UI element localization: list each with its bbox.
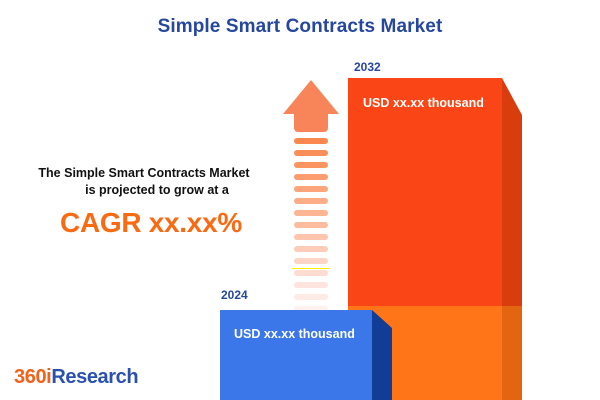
arrow-segment [294, 294, 328, 300]
arrow-segment [294, 258, 328, 264]
arrow-segment [294, 234, 328, 240]
brand-logo[interactable]: 360iResearch [14, 366, 138, 389]
page-title: Simple Smart Contracts Market [0, 16, 600, 38]
cagr-value: CAGR xx.xx% [8, 207, 280, 239]
growth-arrow-icon [283, 80, 339, 285]
arrow-head-icon [283, 80, 339, 132]
arrow-segment [294, 162, 328, 168]
arrow-segment [294, 270, 328, 276]
arrow-segment [294, 282, 328, 288]
bar-2032-side-face-lower [502, 306, 522, 400]
arrow-head-triangle [283, 80, 339, 114]
bar-2032-side-face [502, 78, 522, 306]
arrow-head-stem [294, 113, 328, 132]
bar-2032-year-label: 2032 [354, 60, 381, 74]
arrow-baseline-tick [292, 268, 330, 269]
cagr-lead-line2: is projected to grow at a [8, 182, 280, 199]
arrow-segment [294, 198, 328, 204]
bar-2024-value-label: USD xx.xx thousand [234, 327, 355, 341]
arrow-segment [294, 222, 328, 228]
bar-2024-year-label: 2024 [221, 288, 248, 302]
bar-2024-front-face [220, 310, 372, 400]
logo-part-360: 360 [14, 366, 46, 388]
bar-2032-value-label: USD xx.xx thousand [363, 96, 484, 110]
arrow-segment [294, 174, 328, 180]
cagr-callout: The Simple Smart Contracts Market is pro… [8, 165, 280, 239]
arrow-segment [294, 210, 328, 216]
bar-2032-front-face [348, 78, 502, 306]
logo-part-research: Research [51, 366, 138, 388]
cagr-lead-text: The Simple Smart Contracts Market is pro… [8, 165, 280, 199]
arrow-segment [294, 150, 328, 156]
arrow-segment [294, 138, 328, 144]
infographic-canvas: Simple Smart Contracts Market The Simple… [0, 0, 600, 400]
arrow-segment [294, 186, 328, 192]
cagr-lead-line1: The Simple Smart Contracts Market [38, 166, 249, 180]
arrow-segment [294, 246, 328, 252]
